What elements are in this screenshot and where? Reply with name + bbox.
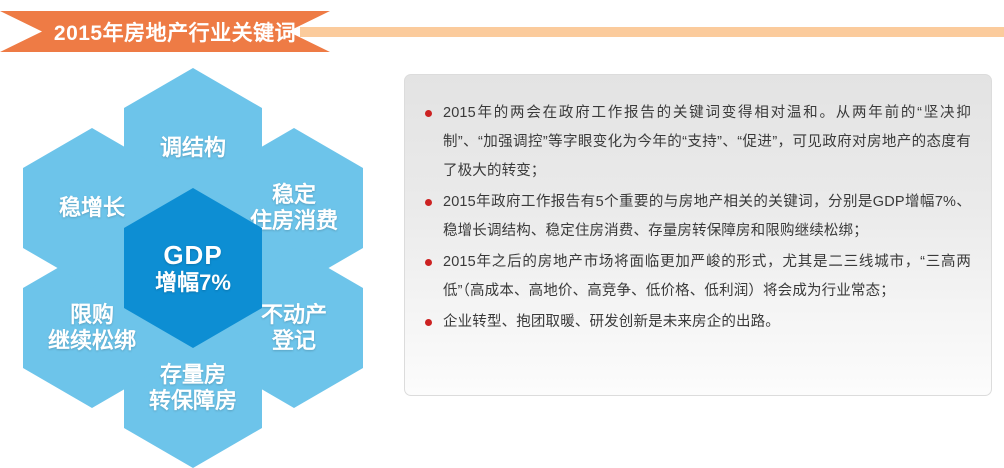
list-item-text: 2015年之后的房地产市场将面临更加严峻的形式，尤其是二三线城市，“三高两低”（…: [443, 254, 971, 299]
hexagon-cluster: 调结构 稳定 住房消费 不动产 登记 存量房 转保障房 限购 继续松绑 稳增长 …: [23, 68, 363, 408]
hex-node-bottom-right-line2: 登记: [272, 328, 316, 354]
hex-node-bottom-line1: 存量房: [160, 362, 226, 388]
hex-node-top-right-line2: 住房消费: [250, 208, 338, 234]
bullet-list: 2015年的两会在政府工作报告的关键词变得相对温和。从两年前的“坚决抑制”、“加…: [421, 99, 971, 337]
hex-node-top-line1: 调结构: [160, 135, 226, 161]
banner-tail-bar: [300, 27, 1004, 37]
hex-node-top-right-line1: 稳定: [272, 182, 316, 208]
bullet-dot-icon: [425, 319, 432, 326]
bullet-dot-icon: [425, 199, 432, 206]
info-panel: 2015年的两会在政府工作报告的关键词变得相对温和。从两年前的“坚决抑制”、“加…: [404, 74, 992, 396]
header-banner: 2015年房地产行业关键词: [0, 11, 1004, 52]
bullet-dot-icon: [425, 110, 432, 117]
list-item: 2015年政府工作报告有5个重要的与房地产相关的关键词，分别是GDP增幅7%、稳…: [421, 188, 971, 246]
list-item: 2015年之后的房地产市场将面临更加严峻的形式，尤其是二三线城市，“三高两低”（…: [421, 248, 971, 306]
list-item-text: 2015年政府工作报告有5个重要的与房地产相关的关键词，分别是GDP增幅7%、稳…: [443, 194, 971, 239]
hex-node-bottom-left-line2: 继续松绑: [48, 328, 136, 354]
hex-node-bottom-right-line1: 不动产: [261, 302, 327, 328]
list-item: 企业转型、抱团取暖、研发创新是未来房企的出路。: [421, 308, 971, 337]
bullet-dot-icon: [425, 259, 432, 266]
hex-node-center-line2: 增幅7%: [155, 270, 231, 296]
list-item: 2015年的两会在政府工作报告的关键词变得相对温和。从两年前的“坚决抑制”、“加…: [421, 99, 971, 186]
list-item-text: 2015年的两会在政府工作报告的关键词变得相对温和。从两年前的“坚决抑制”、“加…: [443, 105, 971, 179]
hex-node-top-left-line1: 稳增长: [59, 195, 125, 221]
hex-node-center-line1: GDP: [163, 240, 222, 271]
hex-node-bottom-left-line1: 限购: [70, 302, 114, 328]
page-title: 2015年房地产行业关键词: [0, 11, 330, 52]
hex-node-bottom-line2: 转保障房: [149, 388, 237, 414]
list-item-text: 企业转型、抱团取暖、研发创新是未来房企的出路。: [443, 314, 780, 330]
